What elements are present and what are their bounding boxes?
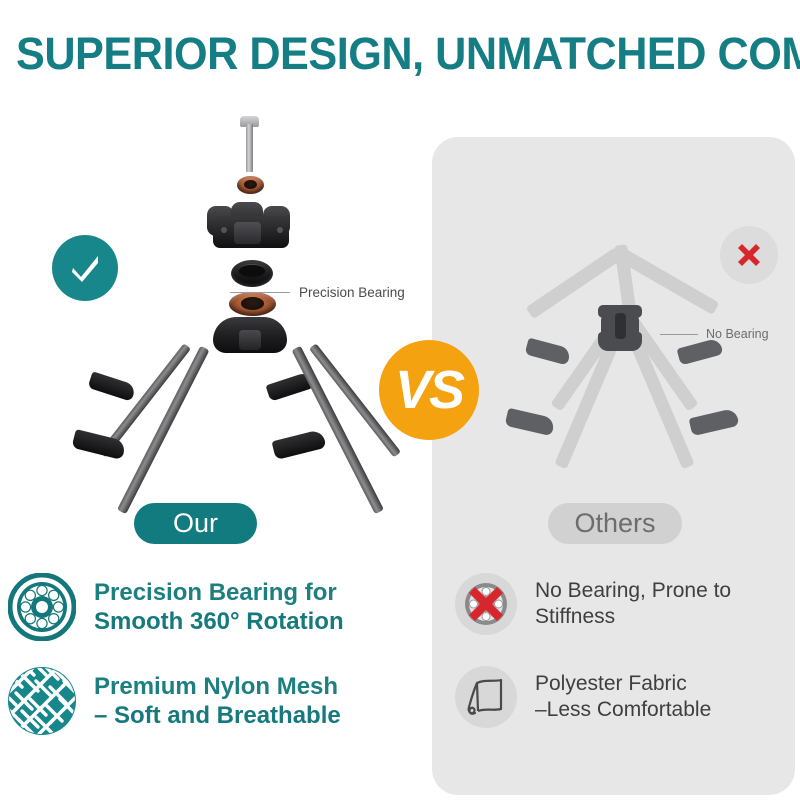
- callout-leader-line: [230, 292, 290, 293]
- feature-line-1: Precision Bearing for: [94, 578, 344, 607]
- our-label-pill: Our: [134, 503, 257, 544]
- rfoot-bottom-left: [505, 408, 556, 436]
- upper-bearing-part: [237, 176, 264, 194]
- foot-rear-left: [87, 371, 136, 401]
- callout-precision-bearing: Precision Bearing: [230, 285, 405, 300]
- feature-text: No Bearing, Prone to Stiffness: [535, 578, 731, 629]
- no-bearing-icon: [455, 573, 517, 635]
- nylon-mesh-icon: [8, 667, 76, 735]
- tripod-crown-part: [213, 317, 287, 353]
- feature-precision-bearing: Precision Bearing for Smooth 360° Rotati…: [8, 573, 344, 641]
- feature-text: Precision Bearing for Smooth 360° Rotati…: [94, 578, 344, 637]
- feature-line-2: Stiffness: [535, 604, 731, 630]
- our-product-image: [55, 110, 385, 490]
- others-product-image: [492, 235, 742, 485]
- ball-bearing-icon: [8, 573, 76, 641]
- check-icon: [52, 235, 118, 301]
- feature-text: Premium Nylon Mesh – Soft and Breathable: [94, 672, 341, 731]
- feature-line-2: –Less Comfortable: [535, 697, 711, 723]
- hub-body-part: [207, 202, 295, 249]
- rfoot-bottom-right: [689, 408, 740, 436]
- vs-badge: VS: [379, 340, 479, 440]
- fabric-icon: [455, 666, 517, 728]
- callout-precision-label: Precision Bearing: [299, 285, 405, 300]
- foot-front-right: [271, 429, 326, 460]
- callout-leader-line: [660, 334, 698, 335]
- page-root: SUPERIOR DESIGN, UNMATCHED COMFORT: [0, 0, 800, 800]
- feature-nylon-mesh: Premium Nylon Mesh – Soft and Breathable: [8, 667, 341, 735]
- others-label-pill: Others: [548, 503, 682, 544]
- cross-icon: [720, 226, 778, 284]
- callout-no-bearing: No Bearing: [660, 327, 769, 341]
- rhub-joint: [596, 305, 644, 351]
- feature-line-1: Premium Nylon Mesh: [94, 672, 341, 701]
- feature-text: Polyester Fabric –Less Comfortable: [535, 671, 711, 722]
- feature-line-2: Smooth 360° Rotation: [94, 607, 344, 636]
- page-title: SUPERIOR DESIGN, UNMATCHED COMFORT: [16, 28, 784, 80]
- rfoot-mid-left: [525, 338, 572, 366]
- feature-line-2: – Soft and Breathable: [94, 701, 341, 730]
- feature-no-bearing: No Bearing, Prone to Stiffness: [455, 573, 731, 635]
- rfoot-mid-right: [677, 338, 724, 366]
- callout-no-bearing-label: No Bearing: [706, 327, 769, 341]
- feature-line-1: Polyester Fabric: [535, 671, 711, 697]
- spacer-ring-part: [231, 260, 273, 287]
- feature-line-1: No Bearing, Prone to: [535, 578, 731, 604]
- bolt-shaft-part: [246, 124, 253, 172]
- feature-polyester-fabric: Polyester Fabric –Less Comfortable: [455, 666, 711, 728]
